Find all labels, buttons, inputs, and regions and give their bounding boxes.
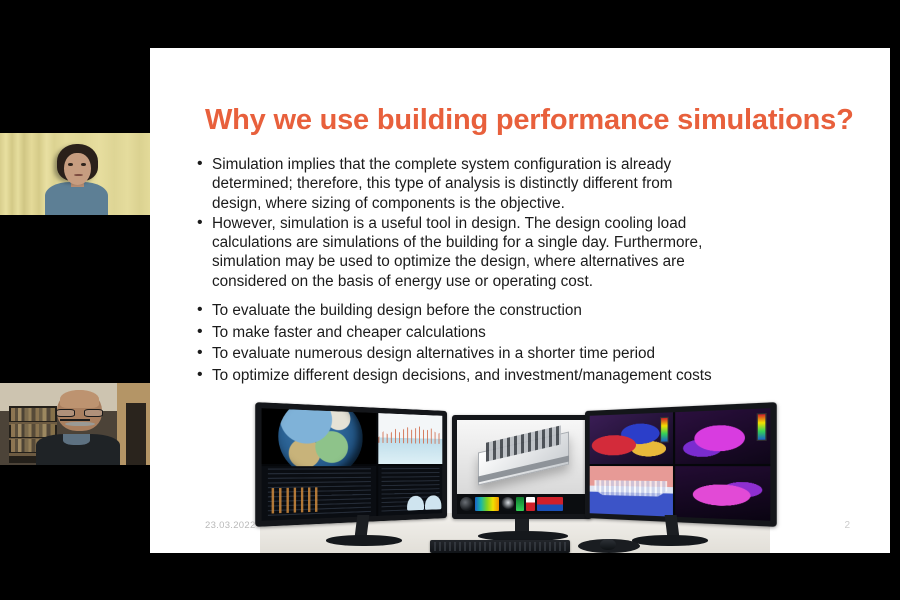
color-legend xyxy=(756,413,766,442)
bar-readout xyxy=(272,488,320,514)
bullet-line: calculations are simulations of the buil… xyxy=(212,233,864,252)
bullet-line: determined; therefore, this type of anal… xyxy=(212,174,864,193)
letterbox-bottom xyxy=(0,553,900,600)
dial-icon xyxy=(501,497,514,511)
participant-1-face xyxy=(64,153,91,186)
list-item: To evaluate numerous design alternatives… xyxy=(196,343,864,365)
bullet-line: simulation may be used to optimize the d… xyxy=(212,252,864,271)
bullet-line: design, where sizing of components is th… xyxy=(212,194,864,213)
triple-monitor-workstation-image xyxy=(260,403,770,553)
glasses-lens-left xyxy=(56,409,75,417)
cfd-result-panel xyxy=(675,408,771,463)
slide-page-number: 2 xyxy=(844,520,850,531)
list-item: Simulation implies that the complete sys… xyxy=(196,155,864,213)
monitor-left-screen xyxy=(262,408,443,521)
list-item: To make faster and cheaper calculations xyxy=(196,322,864,344)
data-table-panel xyxy=(262,466,377,521)
participant-video-rail xyxy=(0,45,150,555)
page-title: Why we use building performance simulati… xyxy=(205,104,865,137)
red-blue-thumbnail xyxy=(537,497,563,511)
dial-icon xyxy=(460,497,473,511)
benefit-bullet-list: To evaluate the building design before t… xyxy=(196,300,864,386)
green-bar-thumbnail xyxy=(516,497,524,511)
participant-1-background xyxy=(0,133,150,215)
monitor-stand-base xyxy=(632,535,708,546)
list-item: To optimize different design decisions, … xyxy=(196,365,864,387)
participant-2-collar xyxy=(63,434,90,445)
monitor-center xyxy=(452,415,592,519)
heatmap-thumbnail xyxy=(475,497,499,511)
globe-panel xyxy=(262,408,377,463)
participant-2-video[interactable] xyxy=(0,383,150,465)
bullet-line: Simulation implies that the complete sys… xyxy=(212,155,864,174)
monitor-stand-neck xyxy=(665,515,680,537)
building-model-panel xyxy=(457,420,587,494)
mouse xyxy=(600,539,616,550)
bullet-line: However, simulation is a useful tool in … xyxy=(212,214,864,233)
shared-slide[interactable]: Why we use building performance simulati… xyxy=(150,48,890,553)
letterbox-top xyxy=(0,0,900,48)
monitor-right-screen xyxy=(590,408,771,521)
red-bar-thumbnail xyxy=(526,497,535,511)
glasses-bridge xyxy=(60,419,90,421)
timeseries-chart-panel xyxy=(378,413,442,463)
monitor-right xyxy=(585,402,777,527)
book-row xyxy=(11,408,55,421)
gauge-icon xyxy=(425,495,441,510)
list-item: However, simulation is a useful tool in … xyxy=(196,214,864,291)
participant-2-background xyxy=(0,383,150,465)
participant-1-eye-left xyxy=(68,163,73,166)
color-legend xyxy=(660,417,669,444)
letterbox-right xyxy=(890,0,900,600)
cfd-result-panel xyxy=(590,412,673,463)
participant-tile-1[interactable] xyxy=(0,45,150,300)
monitor-stand-base xyxy=(326,535,402,546)
gauge-icon xyxy=(407,496,423,511)
participant-1-eye-right xyxy=(81,163,86,166)
door xyxy=(126,403,146,465)
list-item: To evaluate the building design before t… xyxy=(196,300,864,322)
monitor-center-screen xyxy=(457,420,587,514)
participant-1-video[interactable] xyxy=(0,133,150,215)
slide-date: 23.03.2022 xyxy=(205,520,256,531)
glasses-lens-right xyxy=(84,409,103,417)
cfd-surface-panel xyxy=(675,466,771,521)
paragraph-bullet-list: Simulation implies that the complete sys… xyxy=(196,155,864,292)
participant-tile-2[interactable] xyxy=(0,300,150,555)
keyboard xyxy=(430,540,570,553)
bullet-line: considered on the basis of energy use or… xyxy=(212,272,864,291)
section-plot-panel xyxy=(590,466,673,517)
chart-series xyxy=(378,422,442,444)
participant-1-torso xyxy=(45,182,108,215)
participant-2-forehead xyxy=(60,390,99,408)
glasses-icon xyxy=(56,409,103,417)
result-thumbnail-strip xyxy=(457,494,587,514)
monitor-left xyxy=(255,402,447,527)
video-conference-window: Why we use building performance simulati… xyxy=(0,0,900,600)
gauge-panel xyxy=(378,466,442,516)
